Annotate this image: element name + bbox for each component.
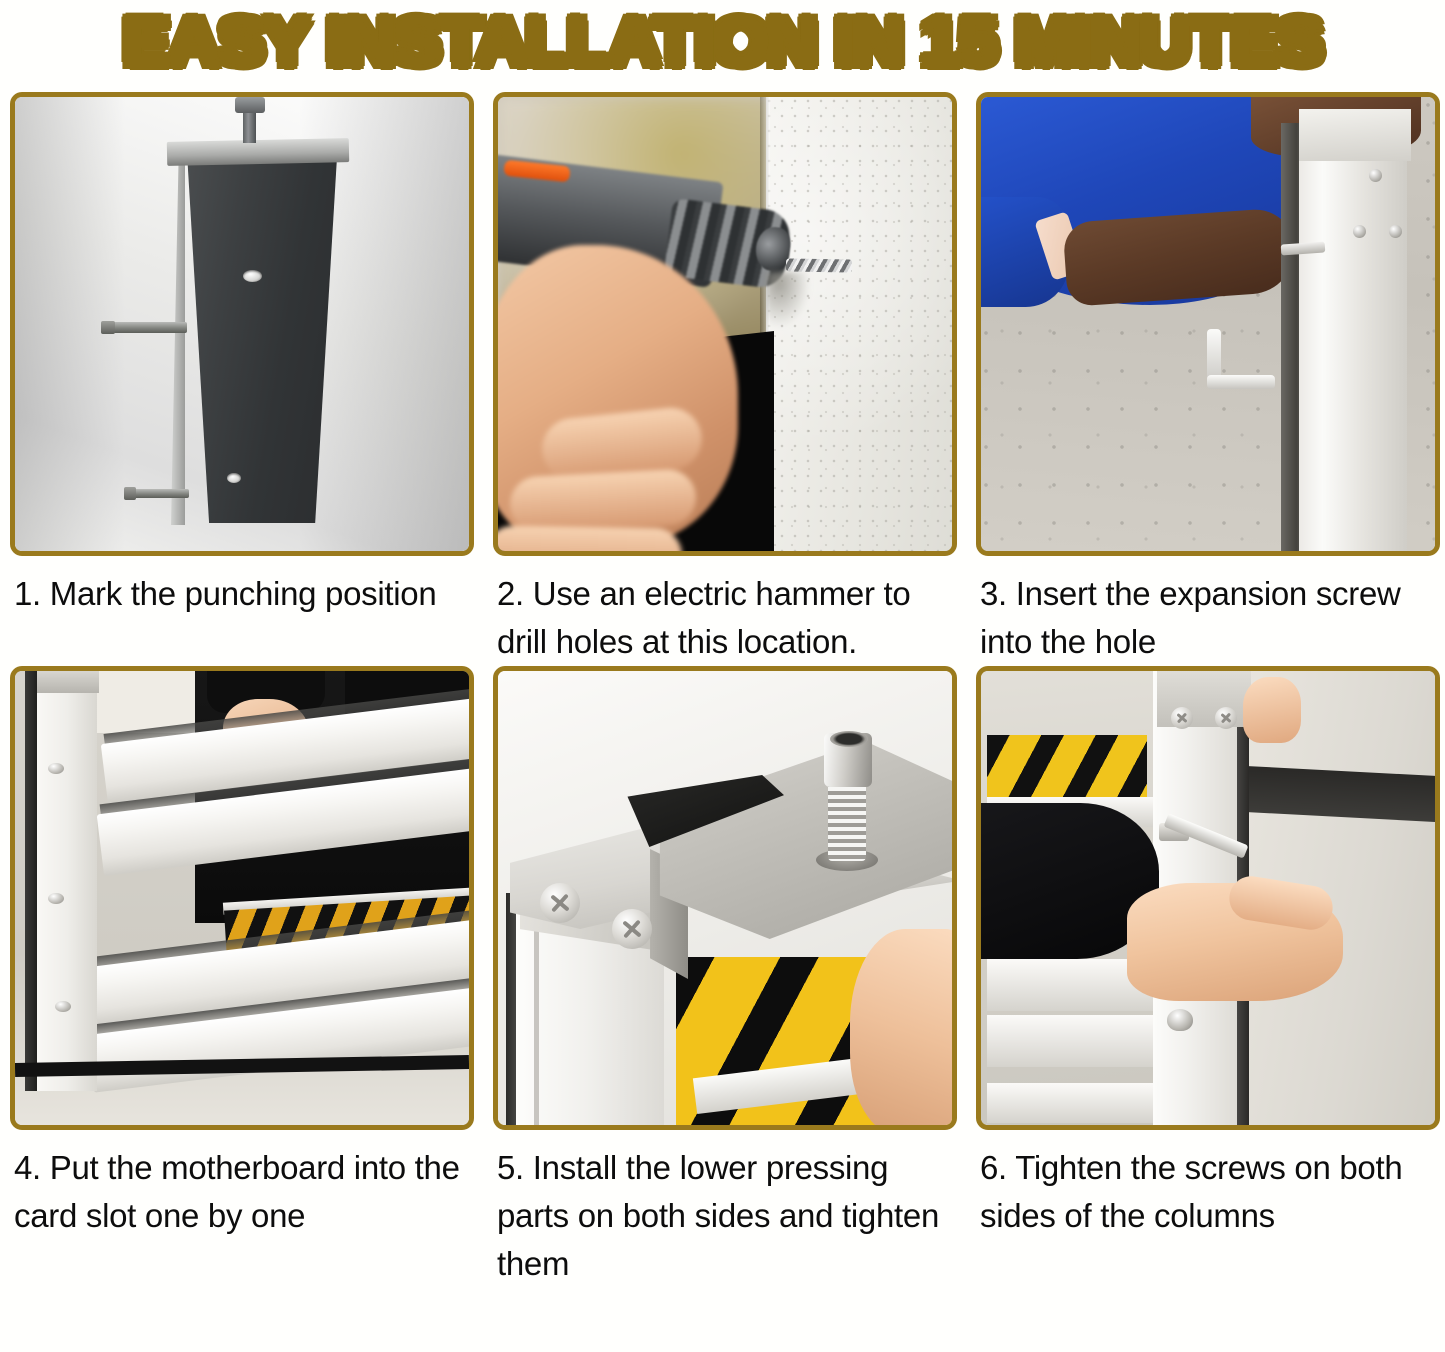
- photo-mark-punching-position: [15, 97, 469, 551]
- column-screw: [1171, 707, 1193, 729]
- finger: [498, 525, 682, 551]
- barrier-board: [987, 1015, 1155, 1067]
- step-caption-1: 1. Mark the punching position: [10, 556, 468, 666]
- photo-drill-holes: [498, 97, 952, 551]
- column-top-bracket: [1299, 109, 1411, 161]
- step-caption-5: 5. Install the lower pressing parts on b…: [493, 1130, 951, 1288]
- hand-supporting-bracket: [850, 929, 952, 1125]
- infographic-page: EASY INSTALLATION IN 15 MINUTES: [0, 0, 1445, 1352]
- step-card-6: 6. Tighten the screws on both sides of t…: [966, 666, 1444, 1288]
- steps-grid: 1. Mark the punching position: [0, 92, 1445, 1288]
- drill-bit: [786, 258, 852, 272]
- hazard-stripe-tape: [987, 735, 1147, 797]
- phillips-screw: [540, 883, 580, 923]
- mounting-hole-lower: [227, 473, 241, 483]
- side-bolt-upper: [111, 322, 187, 333]
- column-screw: [48, 763, 64, 774]
- column-screw: [1215, 707, 1237, 729]
- photo-frame-5: [493, 666, 957, 1130]
- white-column: [1299, 117, 1407, 551]
- bolt-hex-socket: [830, 731, 868, 747]
- hex-key-on-floor: [1203, 329, 1275, 391]
- photo-frame-6: [976, 666, 1440, 1130]
- column-screw: [1353, 225, 1366, 238]
- photo-frame-1: [10, 92, 474, 556]
- photo-install-lower-pressing-parts: [498, 671, 952, 1125]
- step-card-5: 5. Install the lower pressing parts on b…: [483, 666, 961, 1288]
- photo-insert-expansion-screw: [981, 97, 1435, 551]
- column-screw: [48, 893, 64, 904]
- step-caption-2: 2. Use an electric hammer to drill holes…: [493, 556, 951, 666]
- side-bolt-lower: [133, 489, 189, 498]
- mounting-hole-upper: [243, 270, 262, 282]
- upper-hand: [1243, 677, 1301, 743]
- photo-insert-boards-into-slot: [15, 671, 469, 1125]
- column-screw: [1369, 169, 1382, 182]
- drilling-dust: [766, 272, 810, 328]
- column-top-plate: [37, 671, 99, 693]
- title-banner: EASY INSTALLATION IN 15 MINUTES: [0, 0, 1445, 92]
- phillips-screw: [612, 909, 652, 949]
- step-card-3: 3. Insert the expansion screw into the h…: [966, 92, 1444, 666]
- bolt-threaded-shaft: [828, 779, 866, 861]
- step-card-1: 1. Mark the punching position: [0, 92, 478, 666]
- step-caption-4: 4. Put the motherboard into the card slo…: [10, 1130, 468, 1240]
- step-caption-6: 6. Tighten the screws on both sides of t…: [976, 1130, 1434, 1240]
- finger: [509, 468, 698, 534]
- barrier-board: [987, 1083, 1155, 1123]
- page-title: EASY INSTALLATION IN 15 MINUTES: [123, 0, 1322, 78]
- photo-frame-3: [976, 92, 1440, 556]
- lower-column-screw: [1167, 1009, 1193, 1031]
- top-bolt-head: [235, 97, 265, 113]
- photo-tighten-column-screws: [981, 671, 1435, 1125]
- photo-frame-2: [493, 92, 957, 556]
- step-caption-3: 3. Insert the expansion screw into the h…: [976, 556, 1434, 666]
- white-column-with-slot: [37, 671, 97, 1091]
- forearm-and-hand: [1062, 207, 1297, 307]
- column-screw: [55, 1001, 71, 1012]
- photo-frame-4: [10, 666, 474, 1130]
- step-card-2: 2. Use an electric hammer to drill holes…: [483, 92, 961, 666]
- column-screw: [1389, 225, 1402, 238]
- step-card-4: 4. Put the motherboard into the card slo…: [0, 666, 478, 1288]
- column-top-plate: [167, 138, 349, 166]
- hex-key-short-arm: [1207, 375, 1275, 389]
